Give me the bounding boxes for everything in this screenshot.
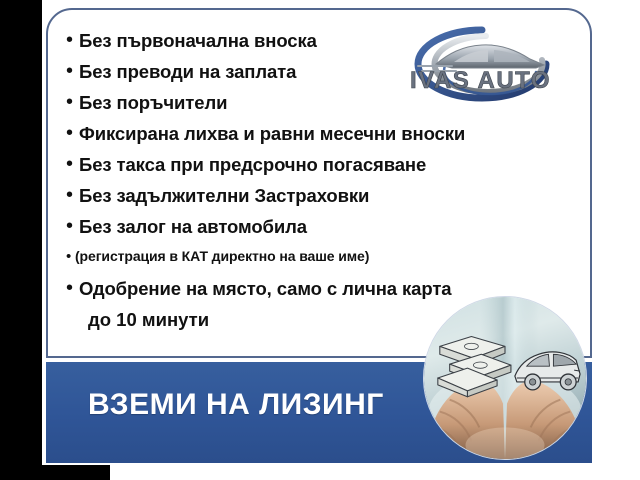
list-item: • Без такса при предсрочно погасяване: [66, 150, 586, 181]
list-item-label: Без преводи на заплата: [79, 57, 296, 86]
bullet-dot-icon: •: [66, 150, 79, 179]
list-item: • Без залог на автомобила: [66, 212, 586, 243]
list-item-label: Без залог на автомобила: [79, 212, 307, 241]
list-item-label: (регистрация в КАТ директно на ваше име): [75, 243, 369, 270]
list-item-label: Без задължителни Застраховки: [79, 181, 369, 210]
list-item-label: Без първоначална вноска: [79, 26, 317, 55]
banner-headline: ВЗЕМИ НА ЛИЗИНГ: [88, 388, 384, 422]
list-item: • Без задължителни Застраховки: [66, 181, 586, 212]
poster-canvas: IVAS AUTO • Без първоначална вноска • Бе…: [0, 0, 640, 480]
list-item-label: Без такса при предсрочно погасяване: [79, 150, 426, 179]
list-item-note: • (регистрация в КАТ директно на ваше им…: [66, 243, 586, 274]
bullet-dot-icon: •: [66, 181, 79, 210]
bullet-dot-icon: •: [66, 26, 79, 55]
feature-bullet-list: • Без първоначална вноска • Без преводи …: [66, 26, 586, 334]
list-item-label: Одобрение на място, само с лична карта: [79, 274, 451, 303]
list-item-label: Фиксирана лихва и равни месечни вноски: [79, 119, 465, 148]
list-item-label: Без поръчители: [79, 88, 227, 117]
letterbox-bar-left: [0, 0, 42, 480]
hands-money-car-photo: [423, 296, 587, 460]
list-item: • Без първоначална вноска: [66, 26, 586, 57]
photo-svg: [424, 297, 586, 459]
list-item: • Без поръчители: [66, 88, 586, 119]
bullet-dot-icon: •: [66, 57, 79, 86]
bullet-dot-icon: •: [66, 212, 79, 241]
bullet-dot-icon: •: [66, 243, 75, 270]
bullet-dot-icon: •: [66, 274, 79, 303]
list-item: • Фиксирана лихва и равни месечни вноски: [66, 119, 586, 150]
bullet-dot-icon: •: [66, 88, 79, 117]
bullet-dot-icon: •: [66, 119, 79, 148]
list-item: • Без преводи на заплата: [66, 57, 586, 88]
letterbox-bar-bottom: [0, 465, 110, 480]
